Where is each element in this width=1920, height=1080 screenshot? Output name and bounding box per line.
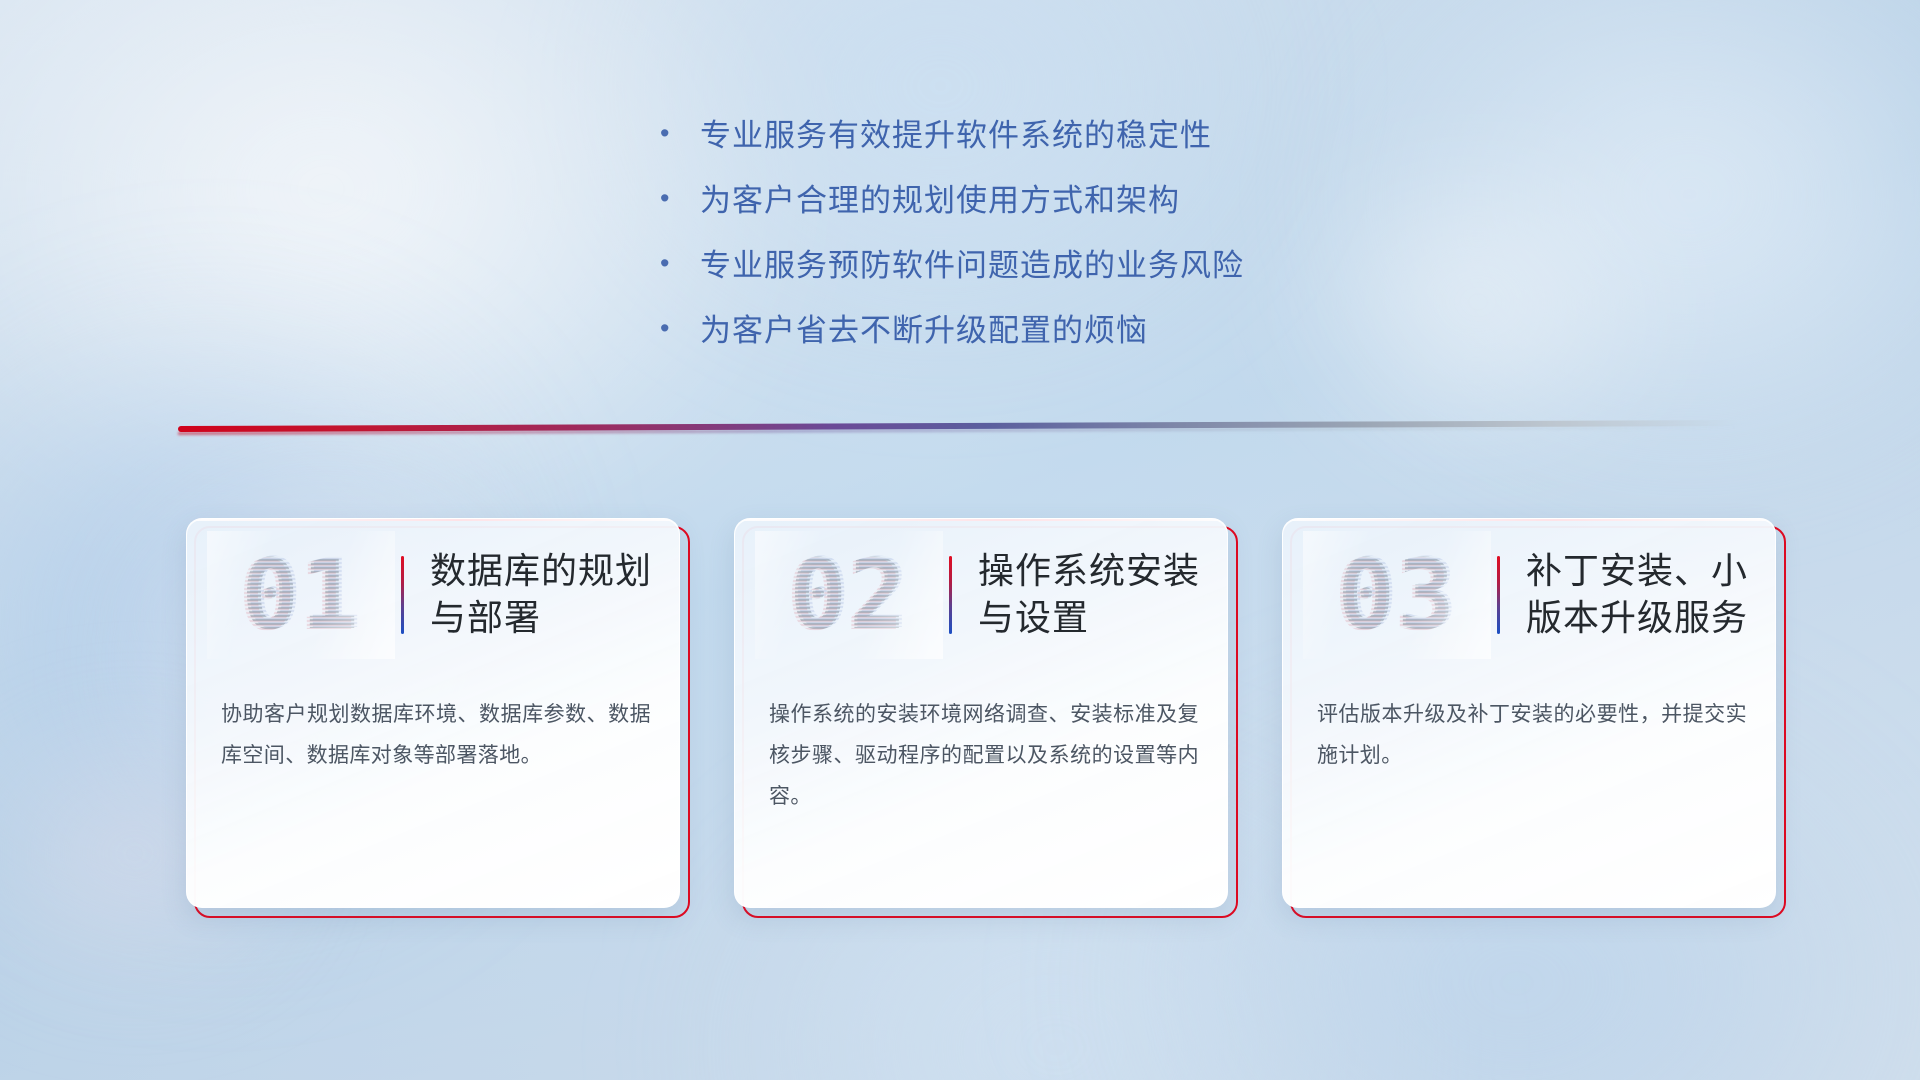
card-number-fade-overlay (207, 531, 395, 659)
bullet-item: • 为客户省去不断升级配置的烦恼 (660, 305, 1244, 370)
benefits-bullet-list: • 专业服务有效提升软件系统的稳定性 • 为客户合理的规划使用方式和架构 • 专… (660, 110, 1244, 370)
card-surface: 02 02 02 操作系统安装 与设置 操作系统的安装环境网络调查、安装标准及复… (734, 518, 1228, 908)
card-number-fade-overlay (1303, 531, 1491, 659)
card-header: 02 02 02 操作系统安装 与设置 (735, 525, 1227, 665)
section-divider (178, 418, 1738, 444)
card-title: 补丁安装、小 版本升级服务 (1526, 548, 1748, 642)
card-number-graphic: 02 02 02 (759, 535, 939, 655)
bullet-item: • 专业服务有效提升软件系统的稳定性 (660, 110, 1244, 175)
card-header: 01 01 01 数据库的规划 与部署 (187, 525, 679, 665)
bullet-text: 为客户合理的规划使用方式和架构 (700, 175, 1180, 220)
bullet-marker-icon: • (660, 185, 700, 212)
card-header: 03 03 03 补丁安装、小 版本升级服务 (1283, 525, 1775, 665)
bullet-text: 专业服务有效提升软件系统的稳定性 (700, 110, 1212, 155)
card-number-fade-overlay (755, 531, 943, 659)
card-surface: 01 01 01 数据库的规划 与部署 协助客户规划数据库环境、数据库参数、数据… (186, 518, 680, 908)
bullet-marker-icon: • (660, 120, 700, 147)
card-top-highlight (1283, 519, 1775, 521)
card-title-accent-bar (949, 556, 952, 634)
card-description: 评估版本升级及补丁安装的必要性，并提交实施计划。 (1317, 695, 1747, 777)
bullet-marker-icon: • (660, 315, 700, 342)
bullet-item: • 专业服务预防软件问题造成的业务风险 (660, 240, 1244, 305)
card-top-highlight (187, 519, 679, 521)
bullet-text: 专业服务预防软件问题造成的业务风险 (700, 240, 1244, 285)
card-title: 数据库的规划 与部署 (430, 548, 652, 642)
card-title: 操作系统安装 与设置 (978, 548, 1200, 642)
card-number-graphic: 03 03 03 (1307, 535, 1487, 655)
card-description: 操作系统的安装环境网络调查、安装标准及复核步骤、驱动程序的配置以及系统的设置等内… (769, 695, 1199, 818)
bullet-text: 为客户省去不断升级配置的烦恼 (700, 305, 1148, 350)
bullet-marker-icon: • (660, 250, 700, 277)
card-description: 协助客户规划数据库环境、数据库参数、数据库空间、数据库对象等部署落地。 (221, 695, 651, 777)
bullet-item: • 为客户合理的规划使用方式和架构 (660, 175, 1244, 240)
card-title-accent-bar (1497, 556, 1500, 634)
card-surface: 03 03 03 补丁安装、小 版本升级服务 评估版本升级及补丁安装的必要性，并… (1282, 518, 1776, 908)
card-number-graphic: 01 01 01 (211, 535, 391, 655)
service-card[interactable]: 01 01 01 数据库的规划 与部署 协助客户规划数据库环境、数据库参数、数据… (186, 518, 678, 906)
card-title-accent-bar (401, 556, 404, 634)
card-top-highlight (735, 519, 1227, 521)
service-card-list: 01 01 01 数据库的规划 与部署 协助客户规划数据库环境、数据库参数、数据… (186, 518, 1774, 906)
service-card[interactable]: 02 02 02 操作系统安装 与设置 操作系统的安装环境网络调查、安装标准及复… (734, 518, 1226, 906)
service-card[interactable]: 03 03 03 补丁安装、小 版本升级服务 评估版本升级及补丁安装的必要性，并… (1282, 518, 1774, 906)
